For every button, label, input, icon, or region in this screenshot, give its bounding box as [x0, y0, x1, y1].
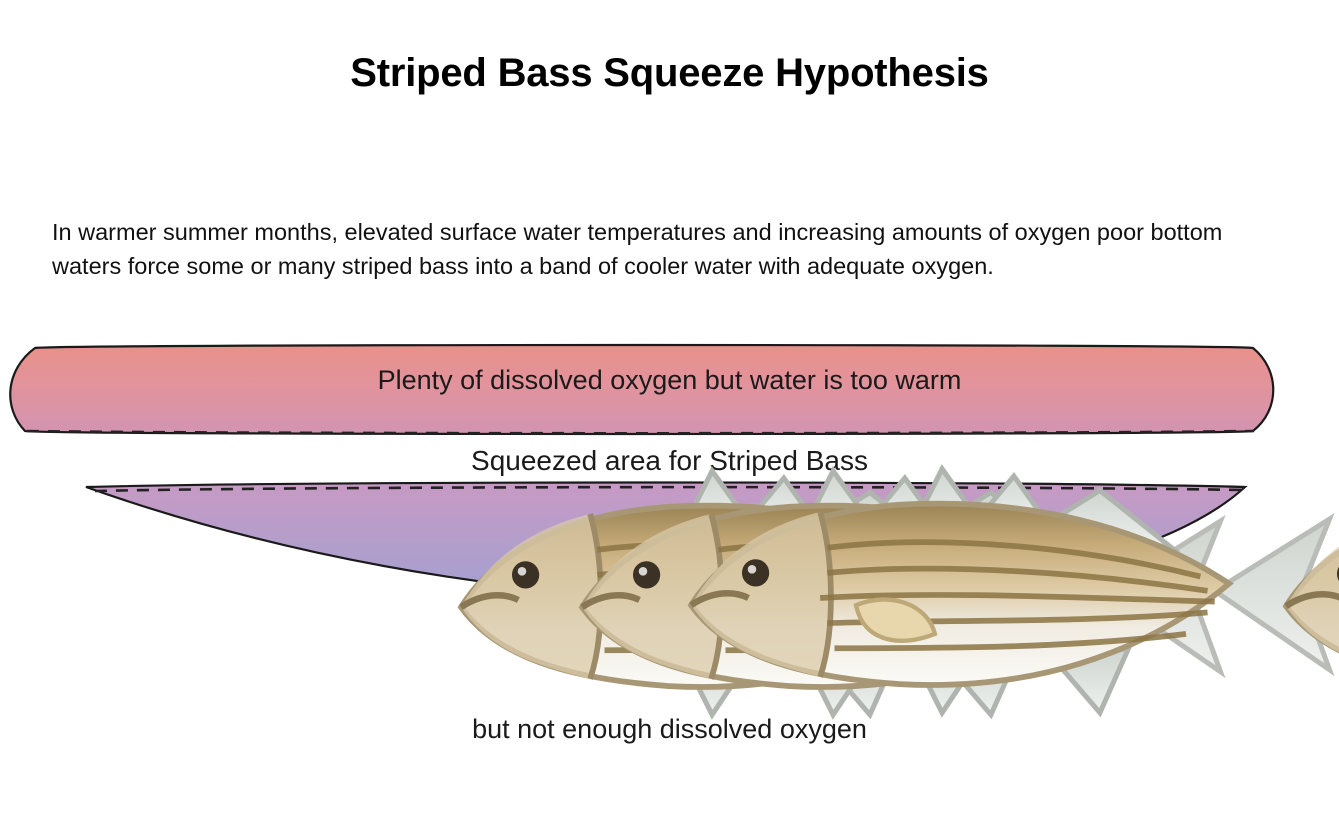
page-title: Striped Bass Squeeze Hypothesis	[0, 49, 1339, 97]
striped-bass-icon	[221, 435, 317, 481]
striped-bass-icon	[330, 433, 426, 479]
striped-bass-icon	[100, 435, 196, 481]
squeeze-diagram: Plenty of dissolved oxygen but water is …	[0, 330, 1339, 660]
striped-bass-icon	[925, 434, 1021, 480]
striped-bass-icon	[1160, 433, 1256, 479]
striped-bass-icon	[1048, 434, 1144, 480]
surface-layer-shape	[10, 345, 1273, 434]
intro-paragraph: In warmer summer months, elevated surfac…	[52, 215, 1292, 285]
